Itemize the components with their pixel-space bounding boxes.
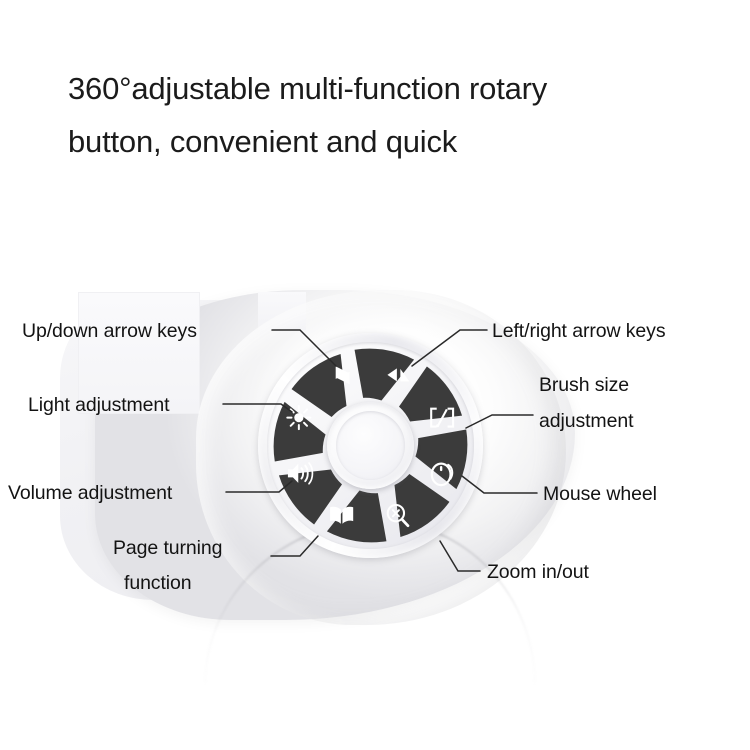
callout-mouse-wheel: Mouse wheel [543,481,657,509]
callout-zoom-in-out: Zoom in/out [487,559,589,587]
callout-page-turning-line-1: Page turning [113,535,222,563]
sun-brightness-icon [287,406,310,429]
rotary-dial[interactable] [258,333,483,558]
callout-left-right-arrow-keys: Left/right arrow keys [492,318,665,346]
page-title-line-2: button, convenient and quick [68,115,728,168]
callout-brush-size-line-2: adjustment [539,408,633,436]
rotary-knob-face [336,411,405,480]
page-title-line-1: 360°adjustable multi-function rotary [68,71,547,106]
callout-page-turning-line-2: function [124,570,192,598]
callout-light-adjustment: Light adjustment [28,392,170,420]
callout-up-down-arrow-keys: Up/down arrow keys [22,318,197,346]
rotary-knob[interactable] [327,402,414,489]
callout-volume-adjustment: Volume adjustment [8,480,172,508]
product-infographic: 360°adjustable multi-function rotary but… [0,0,750,750]
callout-brush-size-line-1: Brush size [539,372,629,400]
page-title: 360°adjustable multi-function rotary but… [68,62,728,169]
